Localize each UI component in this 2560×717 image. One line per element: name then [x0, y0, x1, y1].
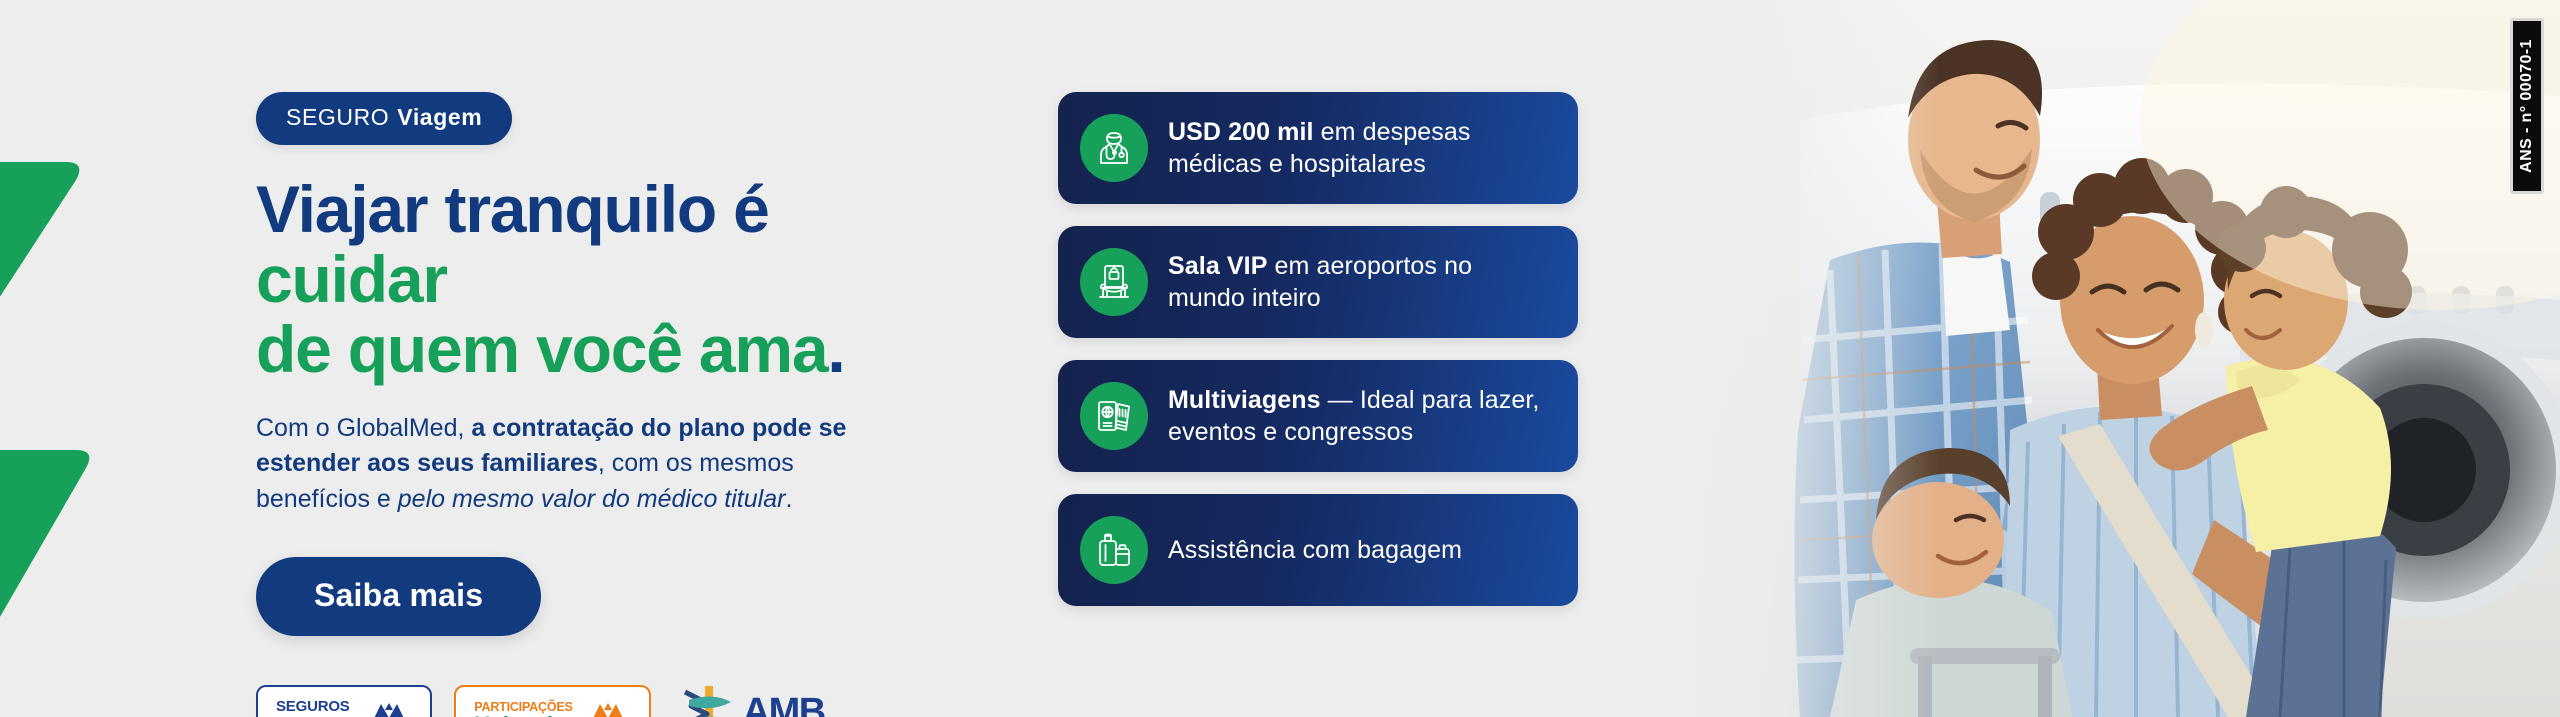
- travel-insurance-banner: ANS - n° 00070-1 SEGURO Viagem Viajar tr…: [0, 0, 2560, 717]
- page-title: Viajar tranquilo é cuidar de quem você a…: [256, 175, 956, 385]
- benefit-card-vip-lounge[interactable]: Sala VIP em aeroportos no mundo inteiro: [1058, 226, 1578, 338]
- luggage-icon: [1080, 516, 1148, 584]
- benefit-card-baggage[interactable]: Assistência com bagagem: [1058, 494, 1578, 606]
- family-airport-photo: [1680, 0, 2560, 717]
- amb-title: AMB: [743, 693, 890, 717]
- seguros-unimed-wordmark: SEGUROS Unimed: [276, 699, 354, 717]
- hero-description: Com o GlobalMed, a contratação do plano …: [256, 411, 886, 518]
- participacoes-unimed-wordmark: PARTICIPAÇÕES Unimed: [474, 701, 572, 717]
- amb-caduceus-icon: [679, 684, 737, 717]
- benefit-card-text: Assistência com bagagem: [1168, 534, 1462, 566]
- benefit-rest-text: Assistência com bagagem: [1168, 536, 1462, 564]
- ans-registration-label: ANS - n° 00070-1: [2518, 39, 2536, 173]
- headline-period: .: [827, 312, 844, 386]
- benefit-card-text: Sala VIP em aeroportos no mundo inteiro: [1168, 250, 1556, 314]
- benefit-card-text: USD 200 mil em despesas médicas e hospit…: [1168, 116, 1556, 180]
- badge-label-bold: Viagem: [397, 104, 482, 131]
- logo-amb: AMB Associação Médica Brasileira: [673, 684, 890, 717]
- doctor-icon: [1080, 114, 1148, 182]
- benefit-bold-text: Multiviagens: [1168, 386, 1321, 414]
- seguros-unimed-top: SEGUROS: [276, 699, 354, 714]
- logo-participacoes-unimed: PARTICIPAÇÕES Unimed: [454, 685, 650, 717]
- benefit-card-medical-expenses[interactable]: USD 200 mil em despesas médicas e hospit…: [1058, 92, 1578, 204]
- logo-seguros-unimed: SEGUROS Unimed: [256, 685, 432, 717]
- amb-wordmark: AMB Associação Médica Brasileira: [743, 693, 890, 717]
- unimed-mark-orange-icon: [585, 700, 631, 717]
- vip-lounge-icon: [1080, 248, 1148, 316]
- benefit-card-text: Multiviagens — Ideal para lazer, eventos…: [1168, 384, 1556, 448]
- badge-label-light: SEGURO: [286, 104, 389, 131]
- seguro-viagem-badge: SEGURO Viagem: [256, 92, 512, 145]
- benefit-bold-text: Sala VIP: [1168, 252, 1267, 280]
- benefit-card-multi-trip[interactable]: Multiviagens — Ideal para lazer, eventos…: [1058, 360, 1578, 472]
- partner-logos: SEGUROS Unimed PARTICIPAÇÕES Unimed: [256, 684, 976, 717]
- unimed-mark-icon: [366, 700, 412, 717]
- photo-left-fade: [1680, 0, 1940, 717]
- benefit-bold-text: USD 200 mil: [1168, 118, 1314, 146]
- headline-part-1: Viajar tranquilo é: [256, 172, 769, 246]
- description-italic-1: pelo mesmo valor do médico titular: [398, 485, 786, 513]
- saiba-mais-button[interactable]: Saiba mais: [256, 557, 541, 636]
- passport-ticket-icon: [1080, 382, 1148, 450]
- unimed-chevron-decoration: [0, 150, 290, 717]
- hero-content: SEGURO Viagem Viajar tranquilo é cuidar …: [256, 0, 976, 717]
- benefits-card-list: USD 200 mil em despesas médicas e hospit…: [1058, 92, 1578, 606]
- headline-part-2: cuidar: [256, 242, 447, 316]
- description-part-3: .: [785, 485, 792, 513]
- description-part-1: Com o GlobalMed,: [256, 414, 471, 442]
- ans-registration-badge: ANS - n° 00070-1: [2510, 18, 2544, 194]
- headline-part-3: de quem você ama: [256, 312, 827, 386]
